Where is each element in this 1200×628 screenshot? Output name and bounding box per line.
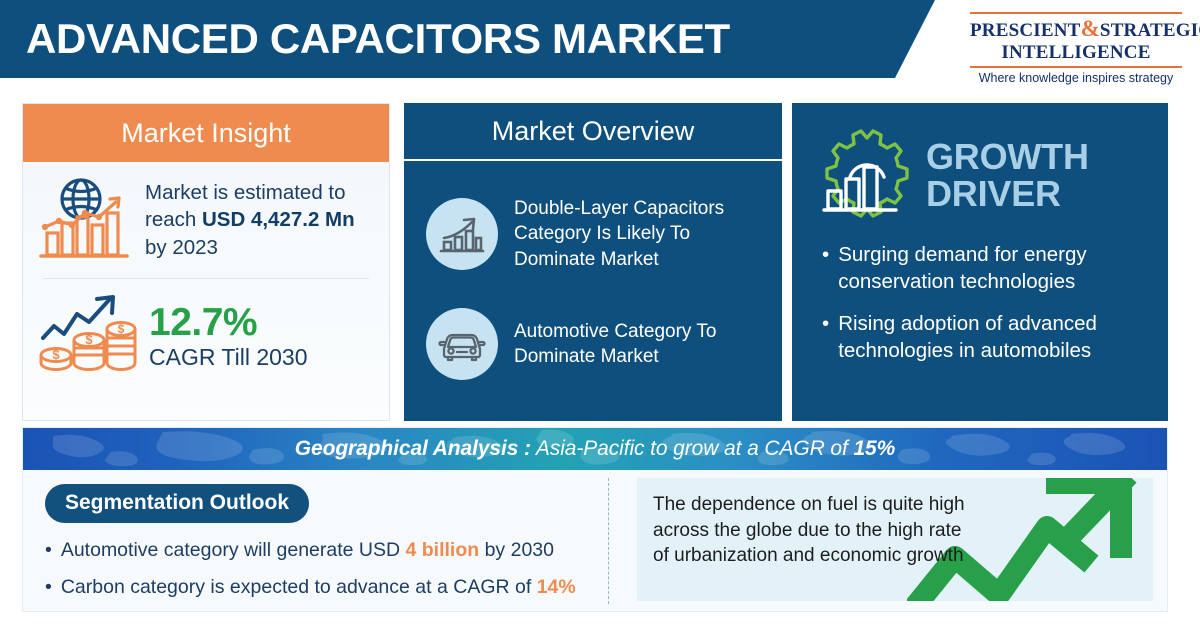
column-divider [608, 478, 609, 604]
growth-bullet-label: Surging demand for energy conservation t… [838, 242, 1146, 295]
segmentation-bullet: • Automotive category will generate USD … [45, 537, 623, 563]
logo-prescient: PRESCIENT [970, 20, 1081, 41]
estimate-value: USD 4,427.2 Mn [202, 208, 355, 231]
segmentation-outlook-pill: Segmentation Outlook [45, 484, 309, 523]
growth-driver-bullets: • Surging demand for energy conservation… [792, 226, 1168, 365]
seg-before: Carbon category is expected to advance a… [61, 576, 537, 598]
svg-text:$: $ [52, 347, 60, 362]
bar-chart-arrow-icon [426, 198, 498, 270]
gear-bar-chart-icon [818, 125, 916, 226]
growth-title-line1: GROWTH [926, 139, 1089, 176]
market-estimate-row: Market is estimated to reach USD 4,427.2… [37, 162, 375, 278]
cagr-value: 12.7% [149, 303, 308, 342]
market-insight-body: Market is estimated to reach USD 4,427.2… [23, 162, 389, 395]
logo-tagline: Where knowledge inspires strategy [970, 68, 1182, 85]
svg-text:$: $ [85, 332, 93, 347]
svg-text:$: $ [118, 322, 125, 336]
fuel-dependence-note: The dependence on fuel is quite high acr… [637, 478, 1153, 601]
bullet-glyph: • [822, 242, 829, 295]
overview-item-automotive: Automotive Category To Dominate Market [404, 289, 782, 399]
segmentation-outlook-column: Segmentation Outlook • Automotive catego… [23, 470, 623, 611]
seg-highlight: 14% [537, 576, 576, 598]
cagr-label: CAGR Till 2030 [149, 342, 308, 372]
segmentation-bullet: • Carbon category is expected to advance… [45, 574, 623, 600]
market-insight-panel: Market Insight [22, 103, 390, 421]
estimate-suffix: by 2023 [145, 236, 218, 259]
car-icon [426, 308, 498, 380]
overview-item-label: Double-Layer Capacitors Category Is Like… [514, 196, 760, 271]
geographical-analysis-text: Geographical Analysis : Asia-Pacific to … [295, 437, 895, 461]
overview-item-label: Automotive Category To Dominate Market [514, 319, 760, 369]
geo-label: Geographical Analysis : [295, 437, 531, 460]
coins-growth-arrow-icon: $ $ $ [37, 292, 137, 383]
market-insight-heading: Market Insight [23, 104, 389, 162]
seg-highlight: 4 billion [406, 539, 480, 561]
seg-before: Automotive category will generate USD [61, 539, 406, 561]
growth-driver-panel: GROWTH DRIVER • Surging demand for energ… [792, 103, 1168, 421]
seg-after: by 2030 [479, 539, 554, 561]
bottom-columns: Segmentation Outlook • Automotive catego… [23, 470, 1167, 611]
bottom-section: Geographical Analysis : Asia-Pacific to … [22, 427, 1168, 612]
logo-line-1: PRESCIENT&STRATEGIC [970, 14, 1182, 42]
segmentation-bullet-text: Carbon category is expected to advance a… [61, 574, 576, 600]
globe-bar-chart-icon [37, 175, 133, 266]
market-estimate-text: Market is estimated to reach USD 4,427.2… [145, 179, 375, 261]
growth-title-line2: DRIVER [926, 176, 1089, 213]
geo-body: Asia-Pacific to grow at a CAGR of [531, 437, 854, 460]
page-title: ADVANCED CAPACITORS MARKET [0, 15, 730, 63]
growth-bullet-label: Rising adoption of advanced technologies… [838, 311, 1146, 364]
header-banner: ADVANCED CAPACITORS MARKET [0, 0, 935, 78]
cagr-row: $ $ $ 12.7% [37, 279, 375, 395]
logo-ampersand: & [1081, 16, 1100, 41]
growth-driver-title: GROWTH DRIVER [926, 139, 1089, 212]
logo-strategic: STRATEGIC [1100, 20, 1200, 41]
bullet-glyph: • [822, 311, 829, 364]
growth-driver-header: GROWTH DRIVER [792, 103, 1168, 226]
cagr-block: 12.7% CAGR Till 2030 [149, 303, 308, 372]
growth-bullet: • Rising adoption of advanced technologi… [822, 311, 1146, 364]
fuel-note-text: The dependence on fuel is quite high acr… [637, 478, 967, 569]
infographic-page: ADVANCED CAPACITORS MARKET PRESCIENT&STR… [0, 0, 1200, 628]
geo-highlight: 15% [853, 437, 895, 460]
overview-item-double-layer: Double-Layer Capacitors Category Is Like… [404, 161, 782, 289]
growth-bullet: • Surging demand for energy conservation… [822, 242, 1146, 295]
logo-line-2: INTELLIGENCE [970, 42, 1182, 66]
market-overview-heading: Market Overview [404, 103, 782, 161]
market-overview-panel: Market Overview Double-Layer Capacitors … [404, 103, 782, 421]
segmentation-bullet-text: Automotive category will generate USD 4 … [61, 537, 554, 563]
geographical-analysis-banner: Geographical Analysis : Asia-Pacific to … [23, 428, 1167, 470]
bullet-glyph: • [45, 537, 52, 563]
bullet-glyph: • [45, 574, 52, 600]
company-logo: PRESCIENT&STRATEGIC INTELLIGENCE Where k… [970, 12, 1182, 85]
